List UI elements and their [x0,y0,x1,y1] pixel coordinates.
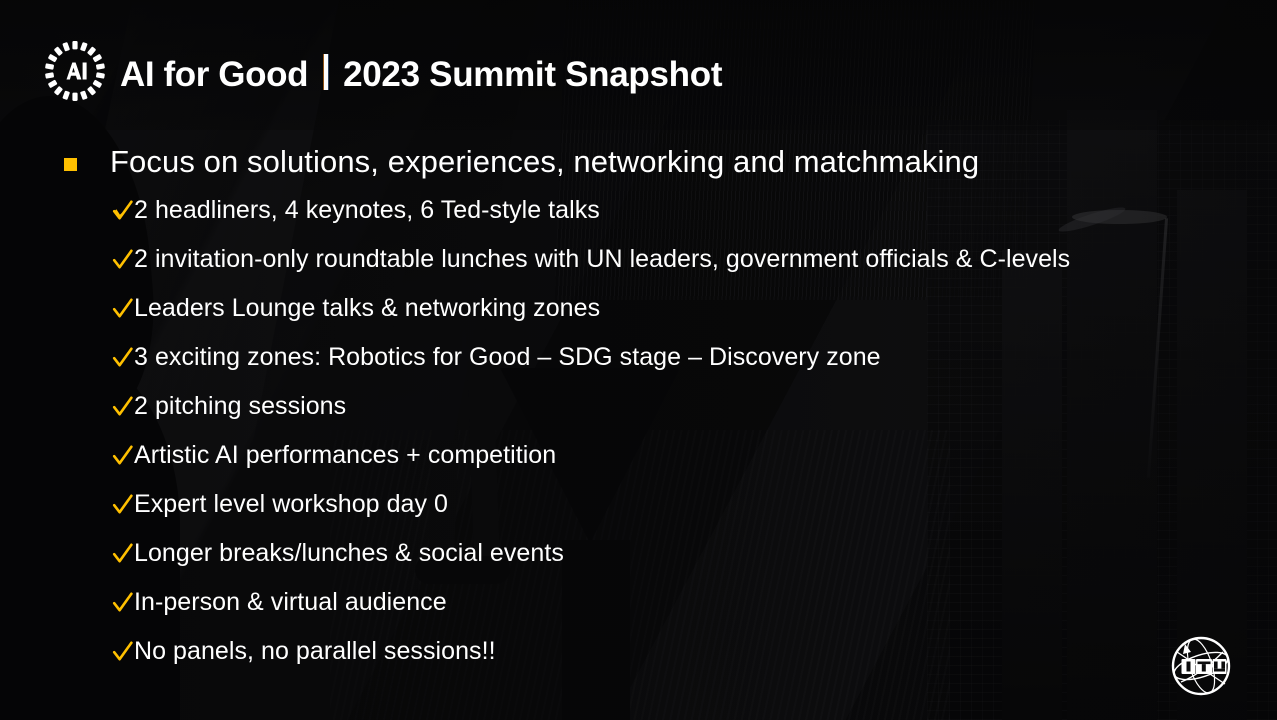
checkmark-icon [112,393,134,421]
checkmark-icon [112,197,134,225]
checkmark-icon [112,540,134,568]
itu-logo-icon [1165,630,1237,702]
slide-header: AI for Good 2023 Summit Snapshot [44,40,722,102]
list-item-label: In-person & virtual audience [134,588,447,616]
checkmark-icon [112,246,134,274]
list-item-label: Longer breaks/lunches & social events [134,539,564,567]
checkmark-icon [112,491,134,519]
checklist: 2 headliners, 4 keynotes, 6 Ted-style ta… [0,196,1277,686]
checkmark-icon [112,344,134,372]
list-item-label: No panels, no parallel sessions!! [134,637,496,665]
list-item: Artistic AI performances + competition [0,441,1277,490]
list-item-label: 2 headliners, 4 keynotes, 6 Ted-style ta… [134,196,600,224]
brand-title: AI for Good 2023 Summit Snapshot [120,50,722,92]
checkmark-icon [112,442,134,470]
list-item: No panels, no parallel sessions!! [0,637,1277,686]
list-item: Leaders Lounge talks & networking zones [0,294,1277,343]
list-item: Longer breaks/lunches & social events [0,539,1277,588]
list-item: 2 pitching sessions [0,392,1277,441]
list-item-label: 2 pitching sessions [134,392,346,420]
list-item: 3 exciting zones: Robotics for Good – SD… [0,343,1277,392]
list-item: In-person & virtual audience [0,588,1277,637]
slide-subtitle: 2023 Summit Snapshot [343,57,722,92]
checkmark-icon [112,589,134,617]
square-bullet-icon [64,158,77,171]
list-item: 2 invitation-only roundtable lunches wit… [0,245,1277,294]
checkmark-icon [112,638,134,666]
list-item: Expert level workshop day 0 [0,490,1277,539]
list-item-label: 3 exciting zones: Robotics for Good – SD… [134,343,881,371]
lead-bullet-row: Focus on solutions, experiences, network… [0,144,1277,180]
list-item: 2 headliners, 4 keynotes, 6 Ted-style ta… [0,196,1277,245]
ai-for-good-logo-icon [44,40,106,102]
list-item-label: 2 invitation-only roundtable lunches wit… [134,245,1070,273]
checkmark-icon [112,295,134,323]
lead-bullet-text: Focus on solutions, experiences, network… [110,144,979,180]
list-item-label: Artistic AI performances + competition [134,441,556,469]
title-separator-bar [324,54,328,90]
list-item-label: Expert level workshop day 0 [134,490,448,518]
list-item-label: Leaders Lounge talks & networking zones [134,294,600,322]
slide-content: Focus on solutions, experiences, network… [0,144,1277,686]
slide-canvas: AI for Good 2023 Summit Snapshot Focus o… [0,0,1277,720]
brand-name: AI for Good [120,57,308,92]
